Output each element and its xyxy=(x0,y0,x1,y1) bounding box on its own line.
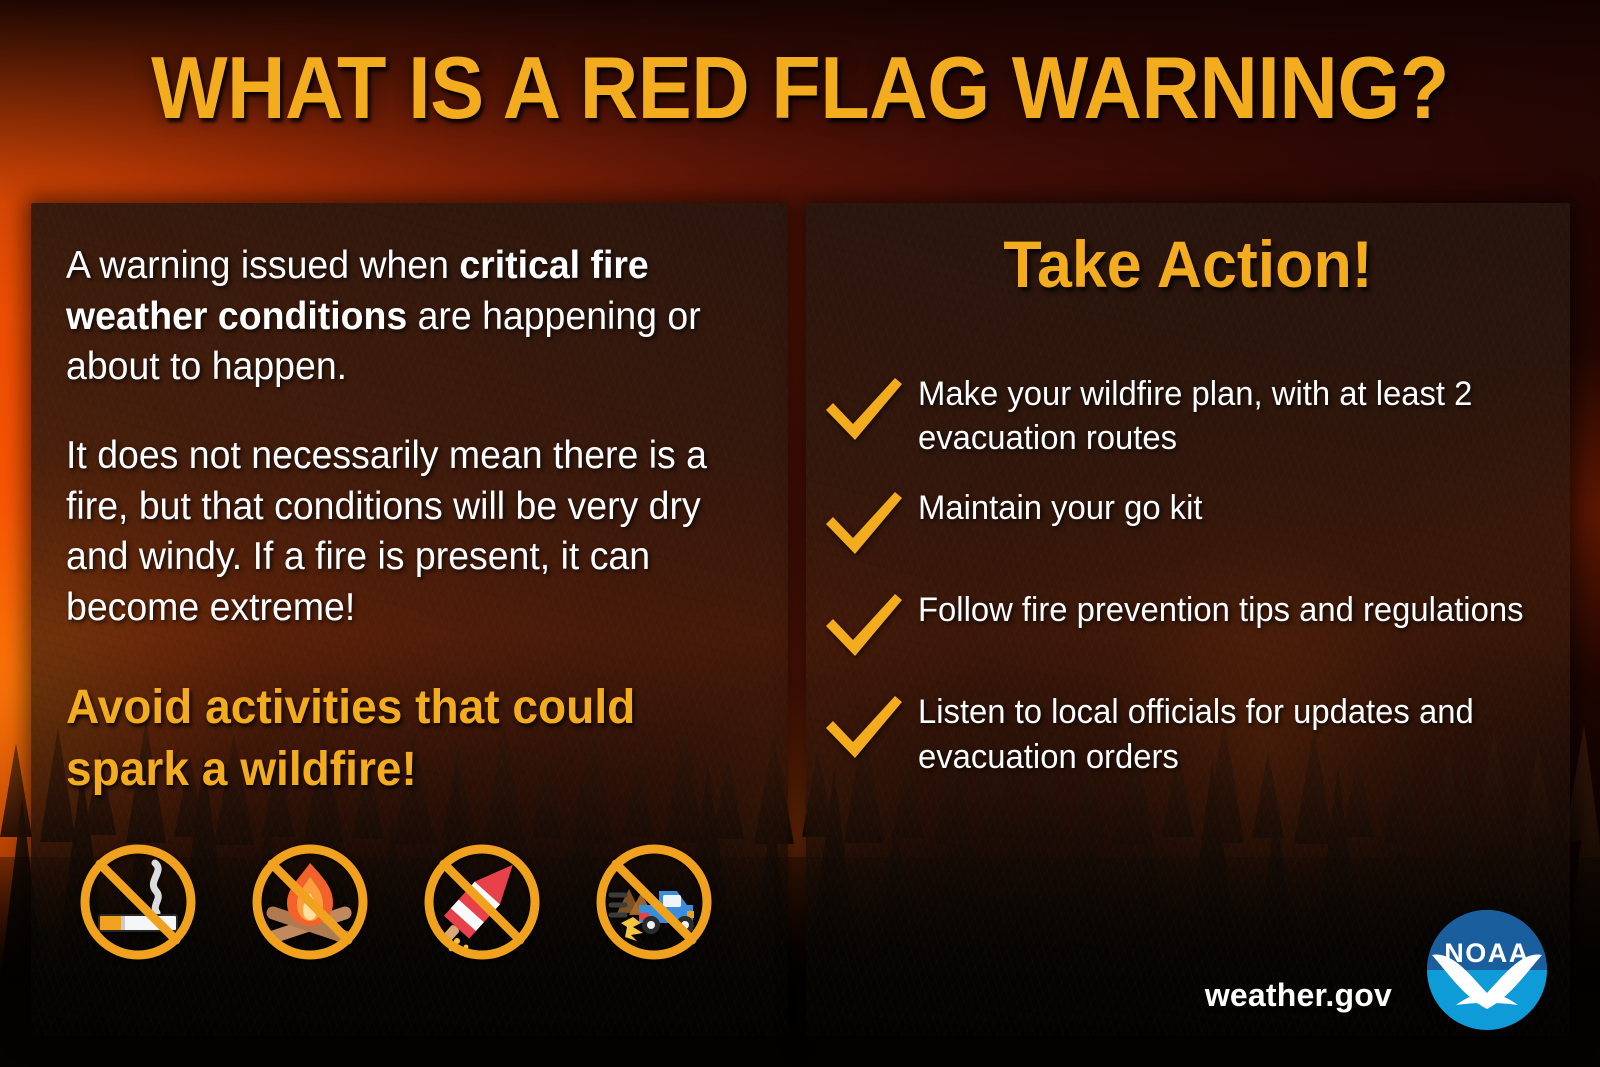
checkmark-icon xyxy=(822,688,918,766)
definition-paragraph-1: A warning issued when critical fire weat… xyxy=(66,241,736,393)
noaa-seagull-icon: NOAA xyxy=(1426,909,1548,1031)
list-item: Listen to local officials for updates an… xyxy=(822,688,1554,778)
definition-seg-1: A warning issued when xyxy=(66,244,459,287)
take-action-heading: Take Action! xyxy=(825,231,1551,297)
checkmark-icon xyxy=(822,370,918,448)
checklist-item-label: Follow fire prevention tips and regulati… xyxy=(918,586,1524,632)
noaa-logo: NOAA xyxy=(1426,909,1548,1031)
no-vehicle-sparks-icon xyxy=(593,841,715,963)
no-fireworks-icon xyxy=(421,841,543,963)
definition-paragraph-2: It does not necessarily mean there is a … xyxy=(66,431,736,634)
prohibited-activities-row xyxy=(77,841,715,963)
checkmark-icon xyxy=(822,586,918,664)
list-item: Maintain your go kit xyxy=(822,484,1554,562)
no-campfire-icon xyxy=(249,841,371,963)
avoid-activities-heading: Avoid activities that could spark a wild… xyxy=(66,677,740,802)
checklist-item-label: Listen to local officials for updates an… xyxy=(918,688,1532,778)
take-action-panel: Take Action! Make your wildfire plan, wi… xyxy=(806,203,1570,1036)
infographic-root: WHAT IS A RED FLAG WARNING? A warning is… xyxy=(0,0,1600,1067)
noaa-wordmark: NOAA xyxy=(1444,938,1530,968)
definition-text: A warning issued when critical fire weat… xyxy=(66,241,736,672)
list-item: Follow fire prevention tips and regulati… xyxy=(822,586,1554,664)
checklist-item-label: Make your wildfire plan, with at least 2… xyxy=(918,370,1532,460)
checkmark-icon xyxy=(822,484,918,562)
checklist-item-label: Maintain your go kit xyxy=(918,484,1202,530)
page-title: WHAT IS A RED FLAG WARNING? xyxy=(64,44,1536,132)
no-smoking-icon xyxy=(77,841,199,963)
action-checklist: Make your wildfire plan, with at least 2… xyxy=(822,370,1554,803)
definition-panel: A warning issued when critical fire weat… xyxy=(31,203,788,1036)
weather-gov-label: weather.gov xyxy=(1205,977,1392,1014)
list-item: Make your wildfire plan, with at least 2… xyxy=(822,370,1554,460)
